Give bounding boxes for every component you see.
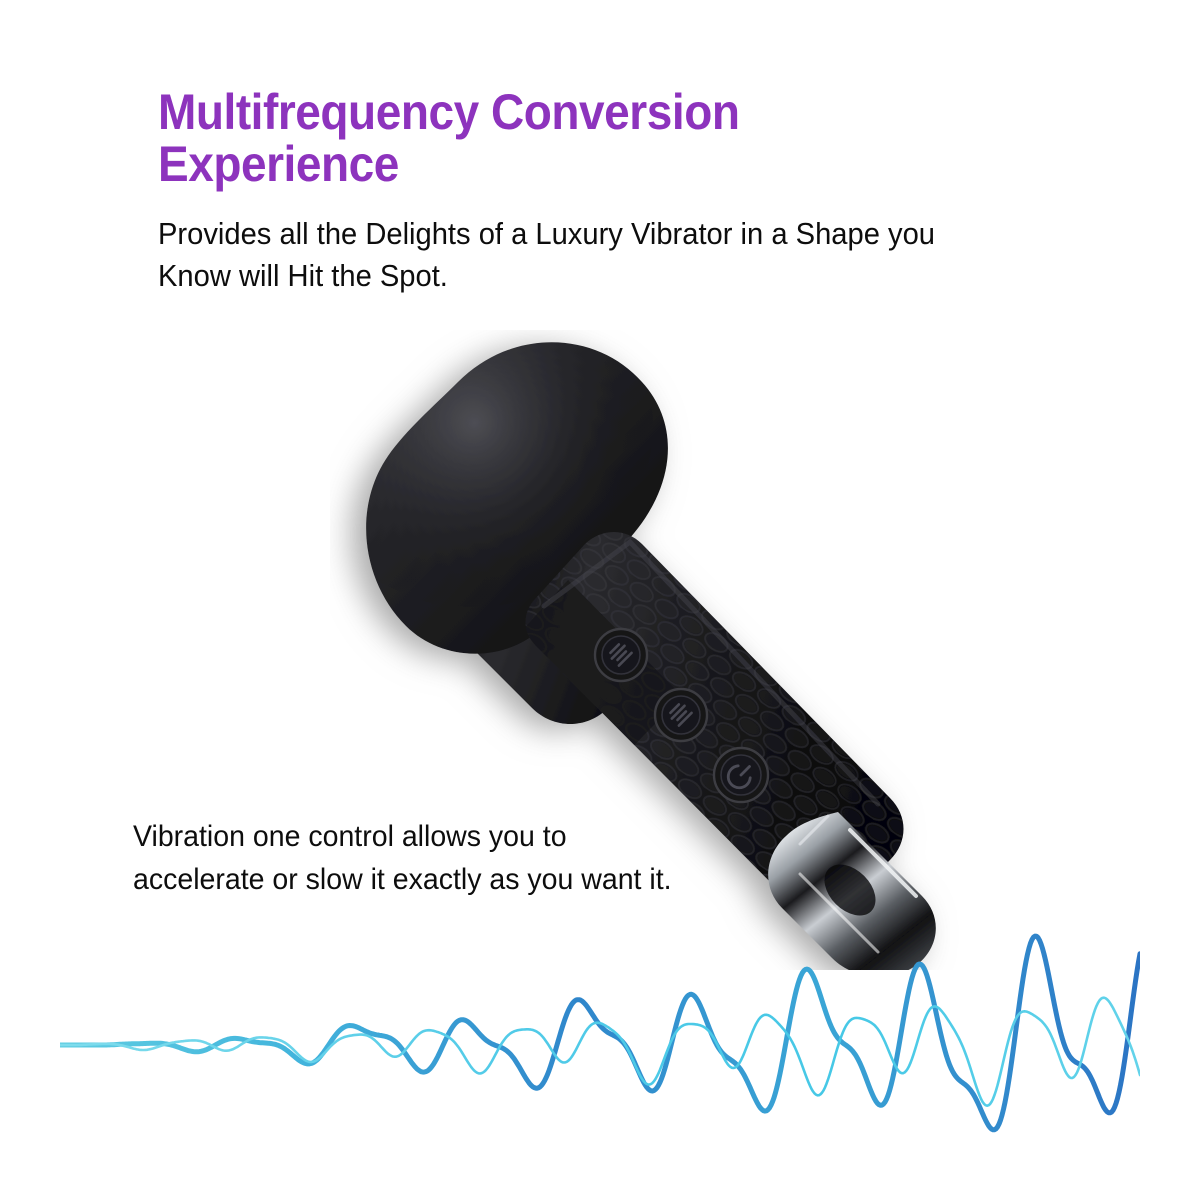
product-image xyxy=(330,330,1010,970)
secondary-wave-path xyxy=(60,998,1140,1106)
frequency-waveform xyxy=(60,930,1140,1160)
intro-paragraph: Provides all the Delights of a Luxury Vi… xyxy=(158,213,938,297)
product-feature-page: Multifrequency Conversion Experience Pro… xyxy=(0,0,1191,1191)
primary-wave-path xyxy=(60,936,1140,1130)
page-title: Multifrequency Conversion Experience xyxy=(158,86,912,190)
wand-body-group xyxy=(366,342,936,970)
